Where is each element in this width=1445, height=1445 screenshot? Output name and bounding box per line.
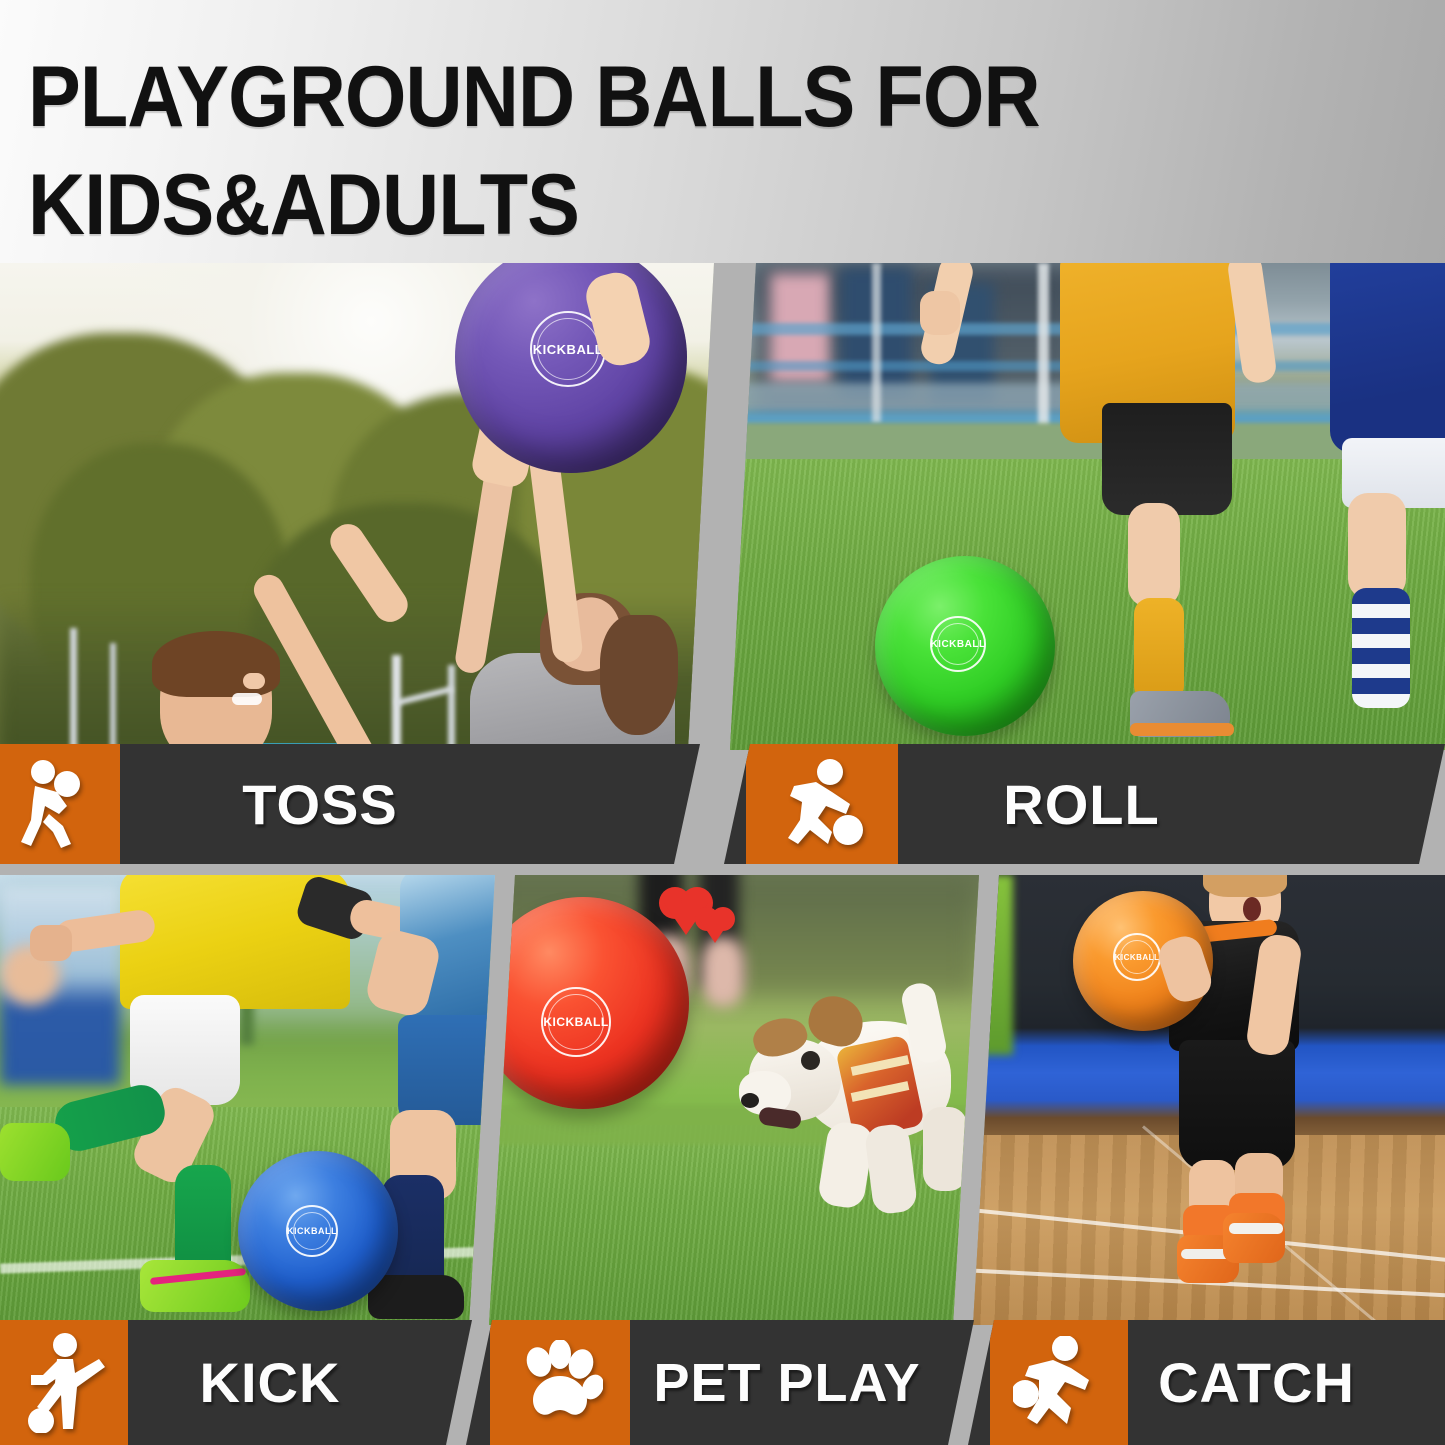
panel-pet[interactable]: KICKBALL [489, 875, 979, 1325]
ball-logo-red: KICKBALL [541, 987, 611, 1057]
label-bar-roll[interactable]: ROLL [724, 744, 1445, 864]
label-text-roll: ROLL [898, 744, 1445, 864]
label-bar-catch[interactable]: CATCH [968, 1320, 1445, 1445]
kick-photo: KICKBALL [0, 875, 495, 1325]
label-bar-pet[interactable]: PET PLAY [466, 1320, 974, 1445]
paw-print-icon [490, 1320, 630, 1445]
label-text-toss: TOSS [120, 744, 700, 864]
heart-icon-small [695, 907, 737, 945]
product-infographic: PLAYGROUND BALLS FOR KIDS&ADULTS [0, 0, 1445, 1445]
ball-logo-orange: KICKBALL [1113, 933, 1161, 981]
panel-roll[interactable]: KICKBALL [730, 263, 1445, 750]
label-bar-toss[interactable]: TOSS [0, 744, 700, 864]
toss-photo: KICKBALL [0, 263, 714, 750]
kick-figure-icon [0, 1320, 128, 1445]
roll-photo: KICKBALL [730, 263, 1445, 750]
catch-figure-icon [990, 1320, 1128, 1445]
page-title: PLAYGROUND BALLS FOR KIDS&ADULTS [28, 44, 1132, 259]
ball-logo-blue: KICKBALL [286, 1205, 338, 1257]
label-text-pet: PET PLAY [630, 1320, 974, 1445]
panel-catch[interactable]: KICKBALL [973, 875, 1445, 1325]
header-banner: PLAYGROUND BALLS FOR KIDS&ADULTS [0, 0, 1445, 263]
label-text-catch: CATCH [1128, 1320, 1445, 1445]
catch-photo: KICKBALL [973, 875, 1445, 1325]
panel-toss[interactable]: KICKBALL [0, 263, 714, 750]
label-bar-kick[interactable]: KICK [0, 1320, 472, 1445]
label-text-kick: KICK [128, 1320, 472, 1445]
panel-board: KICKBALL [0, 263, 1445, 1445]
ball-logo-green: KICKBALL [930, 616, 986, 672]
dog-illustration [739, 975, 979, 1225]
roll-figure-icon [746, 744, 898, 864]
toss-figure-icon [0, 744, 120, 864]
panel-kick[interactable]: KICKBALL [0, 875, 495, 1325]
pet-photo: KICKBALL [489, 875, 979, 1325]
